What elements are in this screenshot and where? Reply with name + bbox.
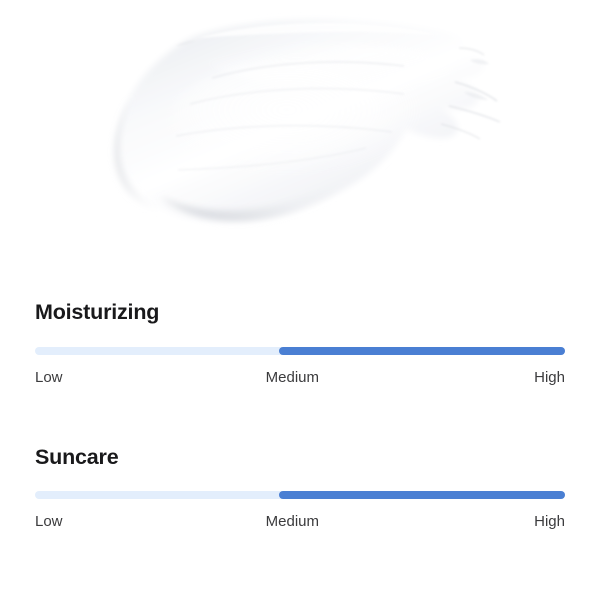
meter-fill	[279, 491, 565, 499]
meter-scale-labels: Low Medium High	[35, 514, 565, 529]
product-image	[0, 0, 600, 268]
scale-label-high: High	[534, 514, 565, 529]
product-attributes-page: Moisturizing Low Medium High Suncare Low…	[0, 0, 600, 600]
scale-label-medium: Medium	[266, 514, 319, 529]
moisturizing-meter[interactable]	[35, 347, 565, 355]
meter-fill	[279, 347, 565, 355]
scale-label-low: Low	[35, 370, 63, 385]
attribute-moisturizing: Moisturizing Low Medium High	[0, 268, 600, 385]
attribute-suncare: Suncare Low Medium High	[0, 413, 600, 530]
attribute-title: Suncare	[35, 413, 565, 469]
scale-label-high: High	[534, 370, 565, 385]
scale-label-medium: Medium	[266, 370, 319, 385]
suncare-meter[interactable]	[35, 491, 565, 499]
scale-label-low: Low	[35, 514, 63, 529]
attribute-title: Moisturizing	[35, 268, 565, 324]
attribute-list: Moisturizing Low Medium High Suncare Low…	[0, 268, 600, 529]
meter-scale-labels: Low Medium High	[35, 370, 565, 385]
cream-swatch-illustration	[0, 0, 600, 268]
